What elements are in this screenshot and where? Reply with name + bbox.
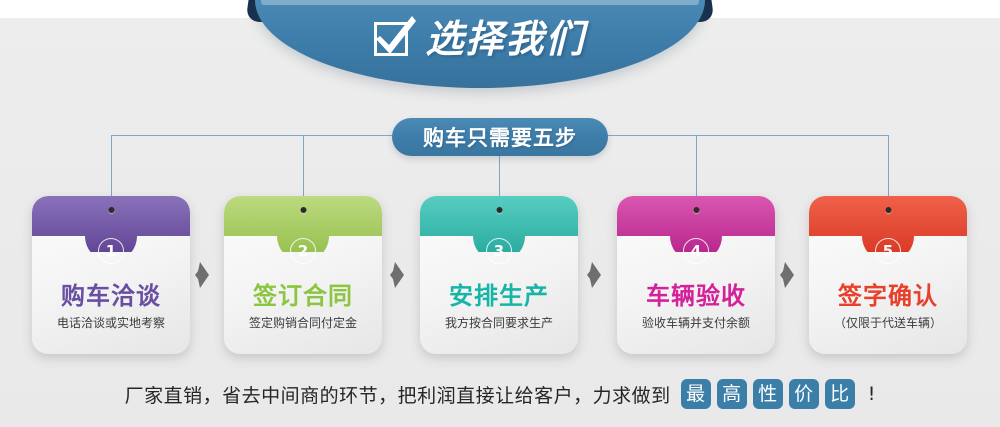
grommet-hole [690, 203, 703, 216]
step-title: 安排生产 [420, 284, 578, 308]
footer-highlight-char: 比 [825, 379, 855, 409]
step-card-1[interactable]: 1 购车洽谈 电话洽谈或实地考察 [32, 196, 190, 354]
arrow-right-icon [780, 262, 796, 288]
footer-text-before: 厂家直销，省去中间商的环节，把利润直接让给客户，力求做到 [125, 381, 671, 408]
step-subtitle: 电话洽谈或实地考察 [32, 317, 190, 329]
step-title: 车辆验收 [617, 284, 775, 308]
step-title: 购车洽谈 [32, 284, 190, 308]
footer-highlight-char: 最 [681, 379, 711, 409]
step-subtitle: 签定购销合同付定金 [224, 317, 382, 329]
step-banner-label: 购车只需要五步 [423, 122, 577, 152]
ribbon-content: 选择我们 [255, 8, 705, 70]
step-title: 签订合同 [224, 284, 382, 308]
connector-line-right [607, 135, 889, 136]
check-mark-icon [374, 22, 408, 56]
footer-highlight-char: 性 [753, 379, 783, 409]
step-number: 4 [683, 238, 709, 264]
ribbon-highlight [261, 0, 699, 5]
footer-highlight-char: 高 [717, 379, 747, 409]
step-number: 3 [486, 238, 512, 264]
grommet-hole [105, 203, 118, 216]
infographic-canvas: 选择我们 购车只需要五步 1 购车洽谈 电话洽谈或实地考察 [0, 0, 1000, 427]
footer-highlight-char: 价 [789, 379, 819, 409]
step-number: 5 [875, 238, 901, 264]
grommet-hole [882, 203, 895, 216]
grommet-hole [297, 203, 310, 216]
step-subtitle: 我方按合同要求生产 [420, 317, 578, 329]
step-banner: 购车只需要五步 [392, 118, 608, 156]
arrow-right-icon [390, 262, 406, 288]
arrow-right-icon [587, 262, 603, 288]
grommet-hole [493, 203, 506, 216]
step-subtitle: （仅限于代送车辆） [809, 317, 967, 329]
connector-drop-2 [303, 135, 304, 203]
step-title: 签字确认 [809, 284, 967, 308]
step-number: 2 [290, 238, 316, 264]
step-card-4[interactable]: 4 车辆验收 验收车辆并支付余额 [617, 196, 775, 354]
connector-drop-1 [111, 135, 112, 203]
step-subtitle: 验收车辆并支付余额 [617, 317, 775, 329]
step-card-5[interactable]: 5 签字确认 （仅限于代送车辆） [809, 196, 967, 354]
connector-drop-5 [888, 135, 889, 203]
step-number: 1 [98, 238, 124, 264]
footer-slogan: 厂家直销，省去中间商的环节，把利润直接让给客户，力求做到 最 高 性 价 比 ! [0, 376, 1000, 412]
footer-text-after: ! [868, 383, 876, 405]
footer-highlight-group: 最 高 性 价 比 [681, 379, 855, 409]
step-card-2[interactable]: 2 签订合同 签定购销合同付定金 [224, 196, 382, 354]
arrow-right-icon [195, 262, 211, 288]
connector-line-left [111, 135, 393, 136]
page-title: 选择我们 [425, 20, 585, 58]
step-card-3[interactable]: 3 安排生产 我方按合同要求生产 [420, 196, 578, 354]
header-ribbon: 选择我们 [255, 0, 705, 92]
connector-drop-4 [696, 135, 697, 203]
